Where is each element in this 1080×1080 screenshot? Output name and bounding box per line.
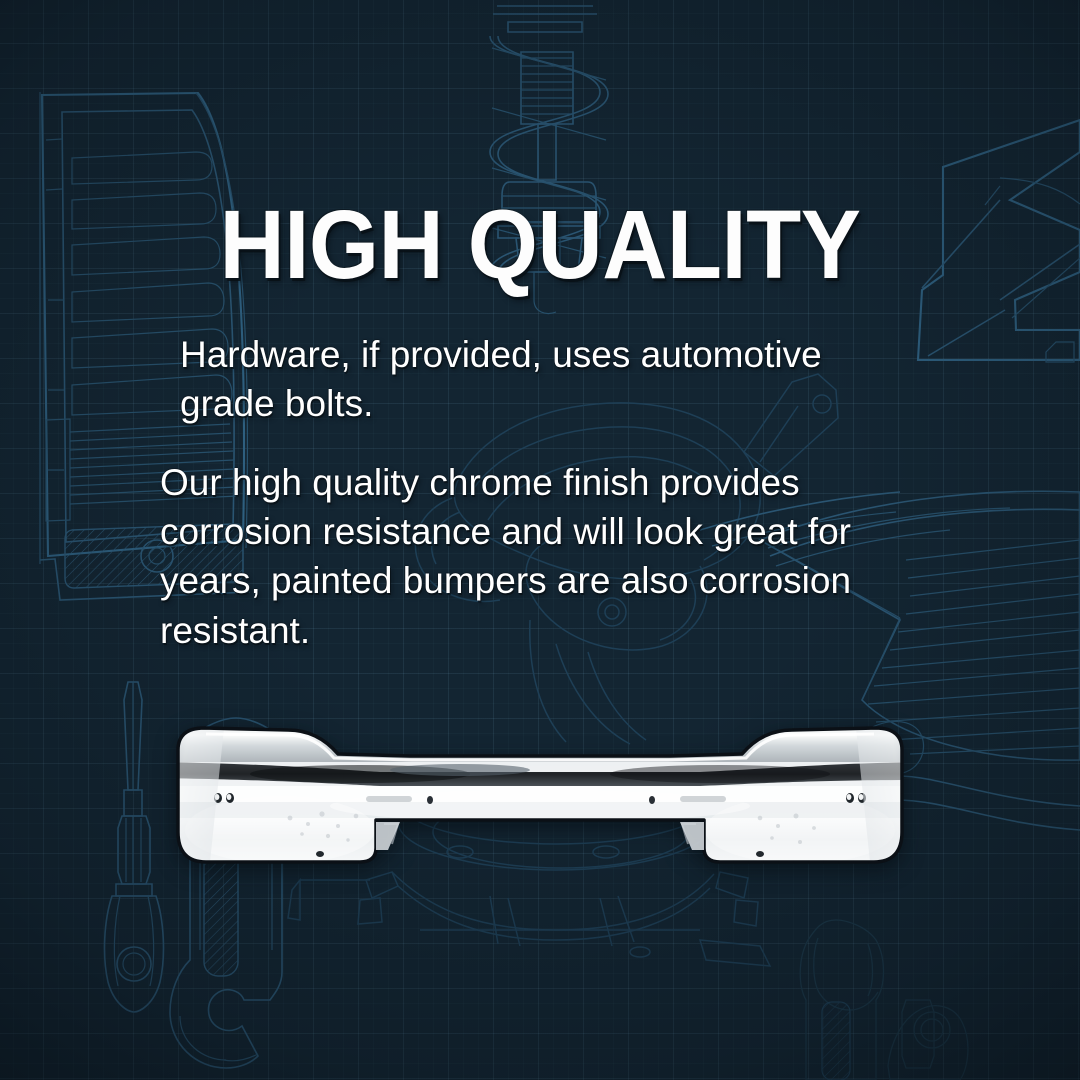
promo-card: HIGH QUALITY Hardware, if provided, uses… [0,0,1080,1080]
body-paragraph-chrome-finish: Our high quality chrome finish provides … [160,458,920,655]
wrench-blueprint-secondary [800,920,883,1080]
screwdriver-blueprint-secondary [888,1000,968,1080]
page-title: HIGH QUALITY [38,196,1042,293]
product-image-chrome-bumper [160,700,920,890]
screwdriver-blueprint [105,682,164,1012]
body-paragraph-hardware: Hardware, if provided, uses automotive g… [180,330,900,428]
